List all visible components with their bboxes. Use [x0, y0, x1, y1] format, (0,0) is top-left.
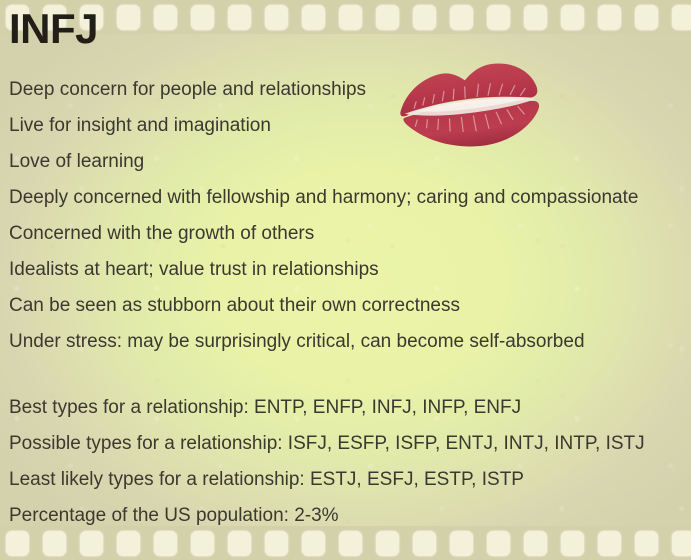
film-perforation: [672, 5, 691, 30]
trait-item: Deep concern for people and relationship…: [9, 72, 685, 108]
film-perforation: [450, 5, 473, 30]
film-perforation: [154, 531, 177, 556]
film-perforation: [154, 5, 177, 30]
film-perforation: [228, 531, 251, 556]
film-perforation: [376, 5, 399, 30]
film-perforation: [117, 5, 140, 30]
film-perforation: [117, 531, 140, 556]
film-perforation: [302, 5, 325, 30]
film-perforation: [302, 531, 325, 556]
film-strip-top: [0, 0, 691, 34]
trait-item: Love of learning: [9, 144, 685, 180]
film-perforation: [561, 5, 584, 30]
trait-item: Under stress: may be surprisingly critic…: [9, 324, 685, 360]
trait-list: Deep concern for people and relationship…: [9, 72, 685, 360]
film-perforation: [413, 531, 436, 556]
film-perforation: [339, 531, 362, 556]
film-perforation: [191, 5, 214, 30]
film-perforation: [487, 531, 510, 556]
trait-item: Live for insight and imagination: [9, 108, 685, 144]
population-percentage: Percentage of the US population: 2-3%: [9, 498, 685, 534]
film-perforation: [228, 5, 251, 30]
page-title: INFJ: [9, 8, 98, 50]
film-perforation: [524, 5, 547, 30]
film-perforation: [487, 5, 510, 30]
relationship-list: Best types for a relationship: ENTP, ENF…: [9, 390, 685, 534]
film-perforation: [191, 531, 214, 556]
infj-personality-card: INFJ: [0, 0, 691, 560]
trait-item: Concerned with the growth of others: [9, 216, 685, 252]
film-perforation: [80, 531, 103, 556]
trait-item: Idealists at heart; value trust in relat…: [9, 252, 685, 288]
film-perforation: [450, 531, 473, 556]
film-perforation: [598, 531, 621, 556]
film-perforation: [265, 5, 288, 30]
relationship-item-possible: Possible types for a relationship: ISFJ,…: [9, 426, 685, 462]
film-perforation: [635, 5, 658, 30]
film-perforation: [43, 531, 66, 556]
relationship-item-best: Best types for a relationship: ENTP, ENF…: [9, 390, 685, 426]
film-perforation: [598, 5, 621, 30]
film-perforation: [561, 531, 584, 556]
film-perforation: [339, 5, 362, 30]
film-perforation: [6, 531, 29, 556]
film-perforation: [413, 5, 436, 30]
film-perforation: [635, 531, 658, 556]
trait-item: Deeply concerned with fellowship and har…: [9, 180, 685, 216]
film-perforation: [265, 531, 288, 556]
film-perforation: [376, 531, 399, 556]
trait-item: Can be seen as stubborn about their own …: [9, 288, 685, 324]
film-perforation: [672, 531, 691, 556]
relationship-item-least-likely: Least likely types for a relationship: E…: [9, 462, 685, 498]
film-perforation: [524, 531, 547, 556]
